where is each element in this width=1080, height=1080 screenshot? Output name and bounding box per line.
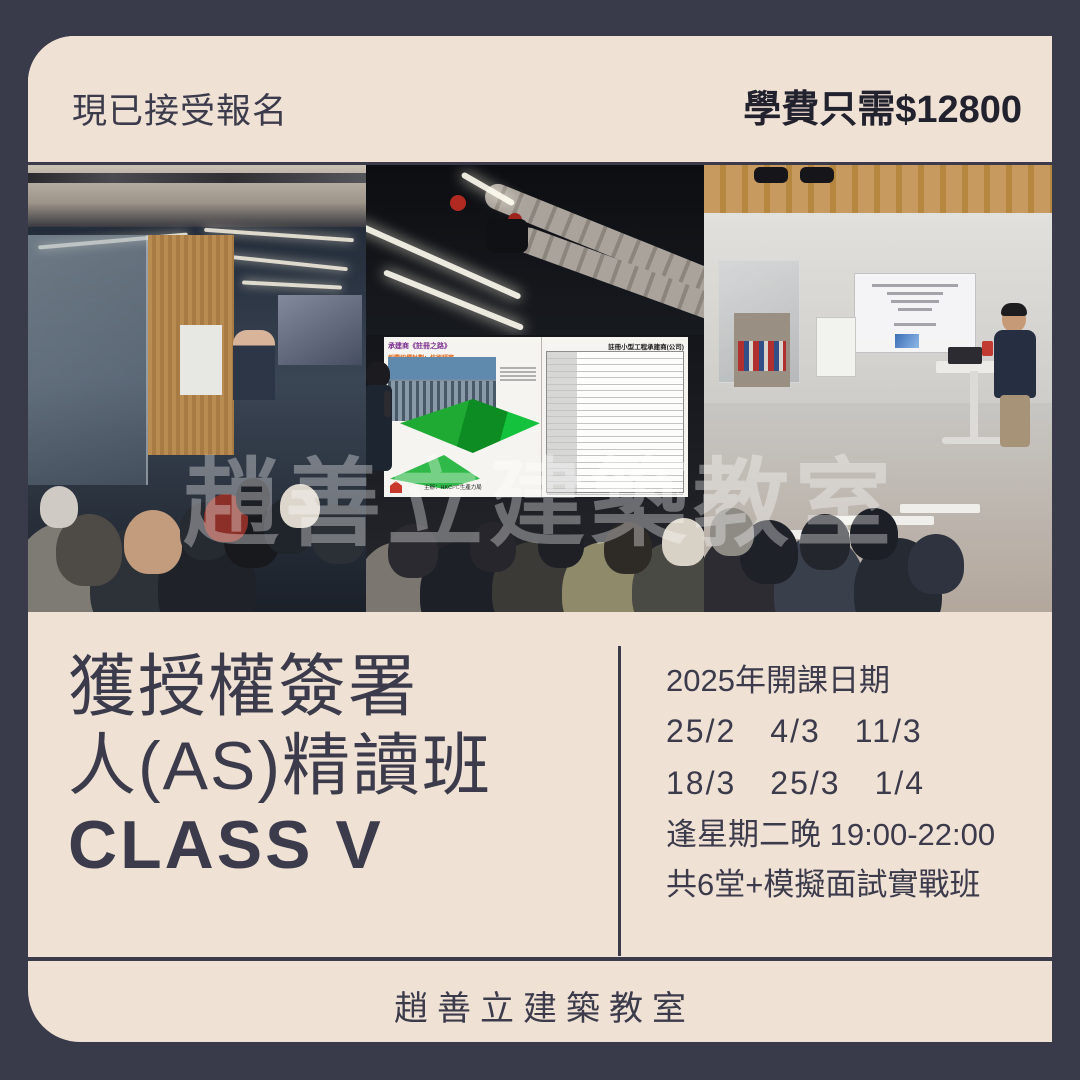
projection-screen [854, 273, 976, 353]
course-title-block: 獲授權簽署 人(AS)精讀班 CLASS V [68, 648, 608, 885]
info-dates-row-1: 25/2 4/3 11/3 [666, 706, 1046, 758]
title-line-1: 獲授權簽署 [68, 648, 608, 727]
photo-projector-slide: 承建商《註冊之路》 採電招標計劃：技術評審 主辦：HKCPC生產力局 註冊小型工… [366, 165, 704, 612]
slide-title: 承建商《註冊之路》 [388, 341, 537, 351]
footer-divider [28, 957, 1052, 961]
tuition-price-label: 學費只需$12800 [743, 78, 1022, 133]
vertical-divider [618, 646, 621, 956]
footer-brand: 趙善立建築教室 [28, 981, 1052, 1030]
info-year-label: 2025年開課日期 [666, 656, 1046, 706]
info-sessions: 共6堂+模擬面試實戰班 [666, 860, 1046, 910]
audience-silhouettes [704, 482, 1052, 612]
photo-classroom-presenter [704, 165, 1052, 612]
poster-card: 現已接受報名 學費只需$12800 [28, 36, 1052, 1042]
slide-right-title: 註冊小型工程承建商(公司) [546, 341, 684, 351]
audience-silhouettes [28, 422, 366, 612]
photo-lecture-hall-audience [28, 165, 366, 612]
content-section: 獲授權簽署 人(AS)精讀班 CLASS V 2025年開課日期 25/2 4/… [28, 612, 1052, 957]
slide-note: 主辦：HKCPC生產力局 [424, 483, 482, 491]
header-band: 現已接受報名 學費只需$12800 [28, 36, 1052, 165]
info-dates-row-2: 18/3 25/3 1/4 [666, 758, 1046, 810]
audience-silhouettes [366, 492, 704, 612]
enrollment-status-label: 現已接受報名 [72, 83, 288, 134]
info-schedule: 逢星期二晚 19:00-22:00 [666, 810, 1046, 860]
presenter-figure [992, 305, 1038, 455]
title-line-2: 人(AS)精讀班 [68, 727, 608, 806]
projected-slide: 承建商《註冊之路》 採電招標計劃：技術評審 主辦：HKCPC生產力局 註冊小型工… [384, 337, 688, 497]
course-info-block: 2025年開課日期 25/2 4/3 11/3 18/3 25/3 1/4 逢星… [666, 656, 1046, 910]
title-line-3: CLASS V [68, 806, 608, 885]
photo-strip: 承建商《註冊之路》 採電招標計劃：技術評審 主辦：HKCPC生產力局 註冊小型工… [28, 165, 1052, 612]
